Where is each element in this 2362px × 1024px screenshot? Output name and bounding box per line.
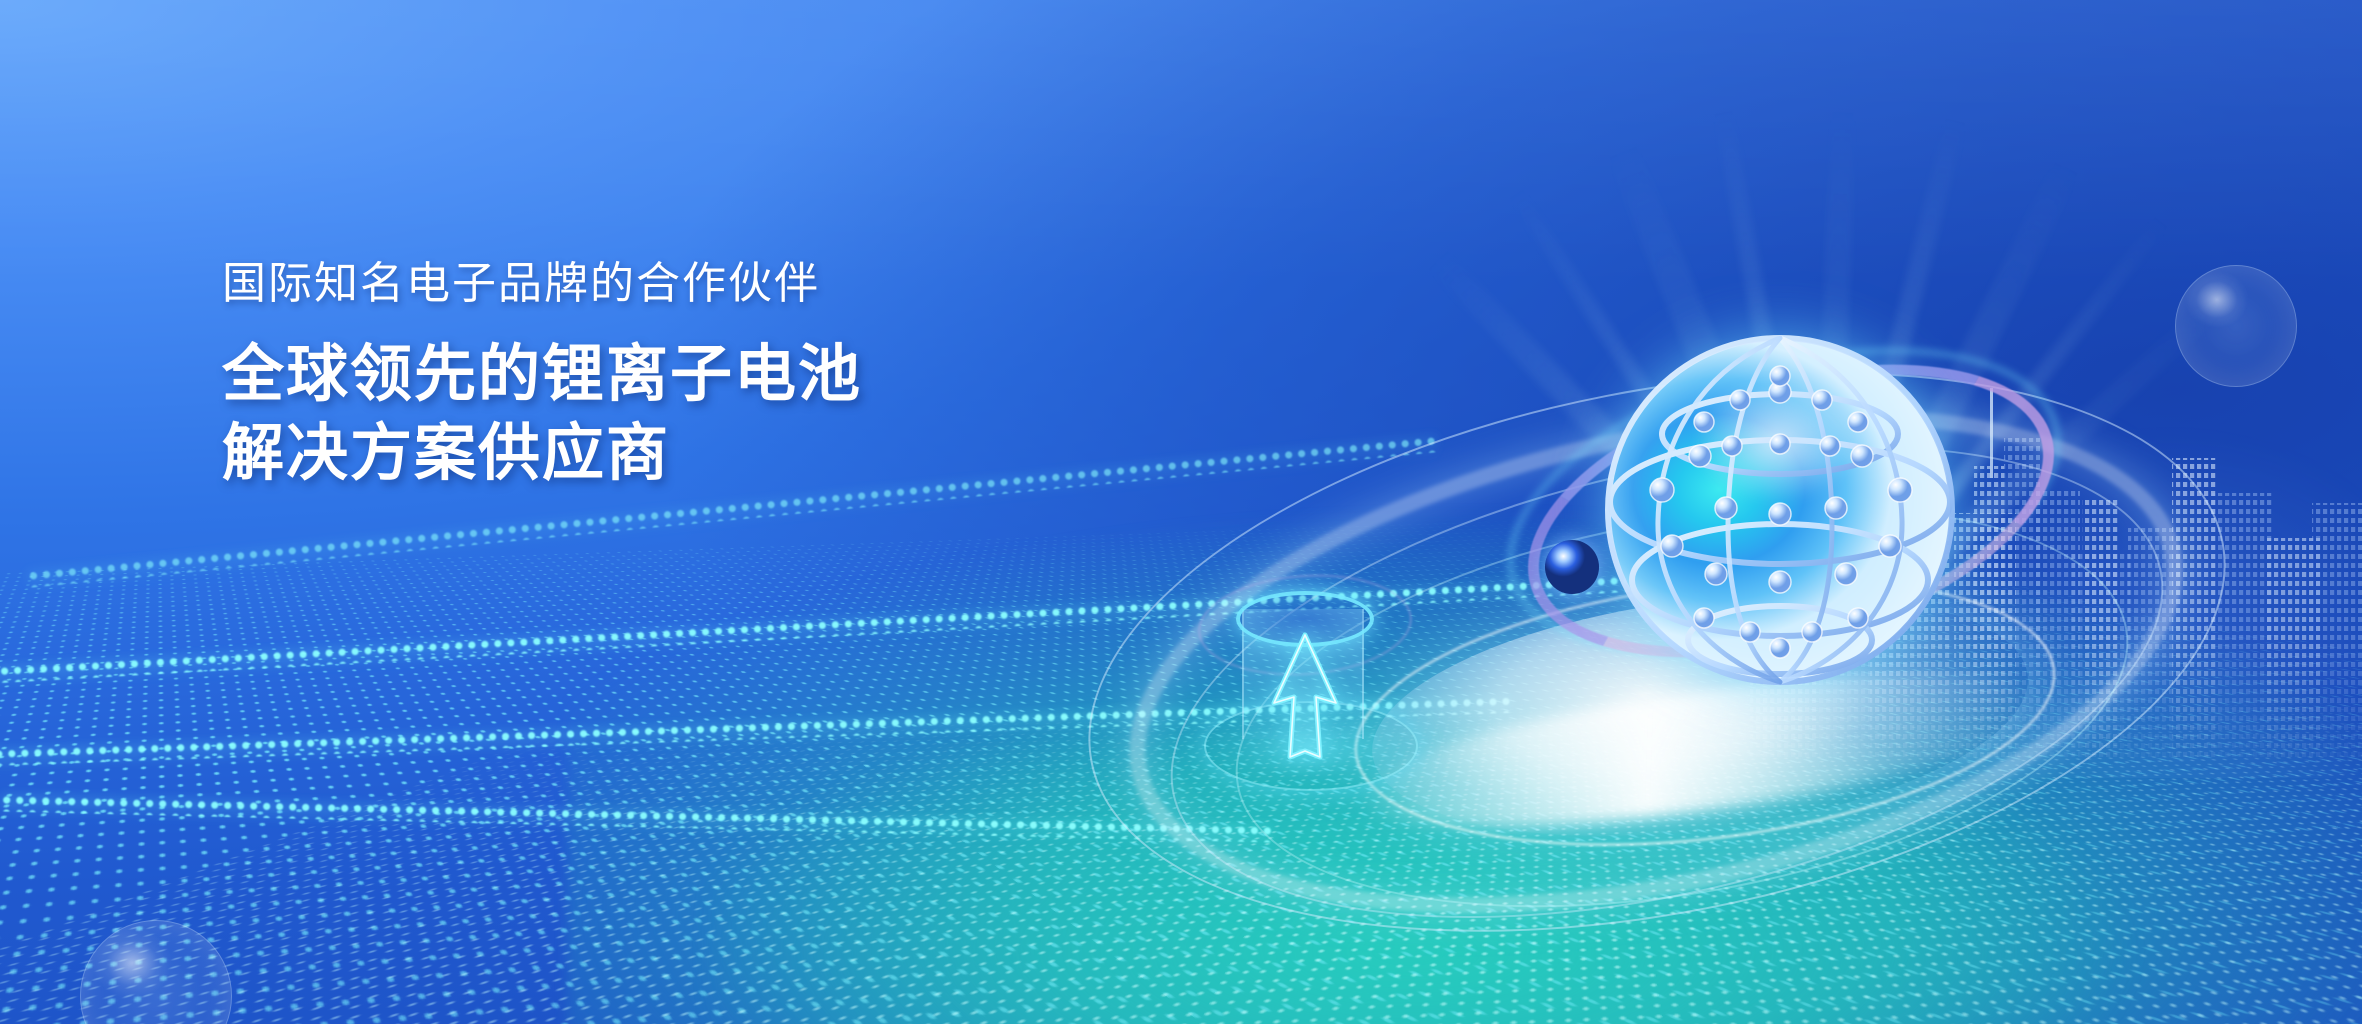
wireframe-globe-icon (1600, 330, 1960, 690)
hero-banner: 国际知名电子品牌的合作伙伴 全球领先的锂离子电池 解决方案供应商 (0, 0, 2362, 1024)
banner-headline-line-2: 解决方案供应商 (222, 414, 862, 493)
globe-wireframe (1600, 330, 1960, 690)
bubble-icon (2175, 265, 2297, 387)
hero-copy: 国际知名电子品牌的合作伙伴 全球领先的锂离子电池 解决方案供应商 (222, 258, 862, 494)
cursor-arrow-icon (1260, 625, 1350, 775)
pedestal-cylinder (1190, 585, 1460, 805)
banner-headline-line-1: 全球领先的锂离子电池 (222, 335, 862, 414)
banner-eyebrow: 国际知名电子品牌的合作伙伴 (222, 258, 862, 311)
banner-headline: 全球领先的锂离子电池 解决方案供应商 (222, 335, 862, 494)
orbit-node-icon (1545, 540, 1599, 594)
